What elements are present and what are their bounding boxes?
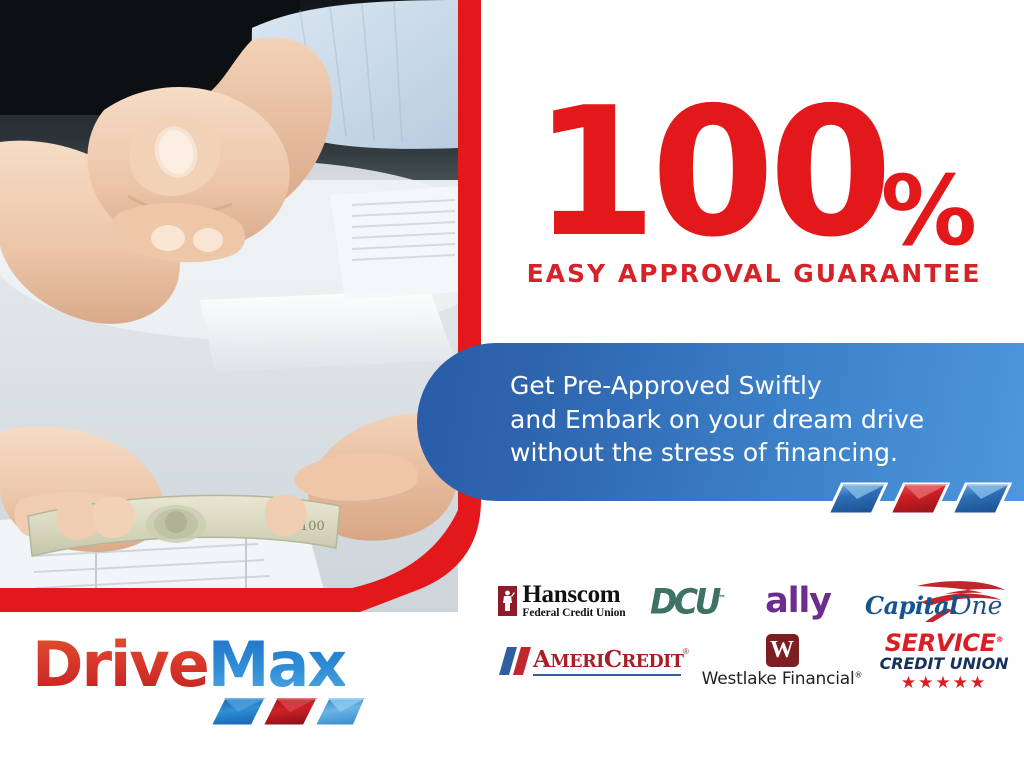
drivemax-wordmark: DriveMax [32,634,345,696]
lender-row-1: Hanscom Federal Credit Union DCU™ ally [492,572,1016,630]
service-cu-stars-icon: ★★★★★ [901,674,987,691]
americredit-slash-icon [497,647,531,675]
westlake-w-letter: W [770,638,794,662]
capital-one-one: One [951,591,1002,620]
westlake-w-mark-icon: W [766,634,799,667]
capital-one-wordmark: Capital One [859,578,1009,624]
chevron-accent-icon [826,482,1012,516]
drivemax-logo[interactable]: DriveMax [32,634,372,738]
lender-logo-grid: Hanscom Federal Credit Union DCU™ ally [492,566,1016,698]
service-cu-trademark: ® [996,635,1004,644]
promo-line-3: without the stress of financing. [510,436,1010,470]
lender-logo-service-cu[interactable]: SERVICE® CREDIT UNION ★★★★★ [872,632,1016,690]
service-cu-name: SERVICE® [885,631,1003,655]
service-cu-subtitle: CREDIT UNION [880,656,1009,672]
hanscom-name: Hanscom [522,582,625,607]
headline-subtitle: EASY APPROVAL GUARANTEE [484,259,1024,288]
headline-block: 100 % EASY APPROVAL GUARANTEE [484,96,1024,326]
ally-wordmark: ally [765,581,831,621]
lender-logo-ally[interactable]: ally [744,572,852,630]
westlake-trademark: ® [855,670,863,679]
americredit-trademark: ® [683,647,689,656]
promo-line-1: Get Pre-Approved Swiftly [510,369,1010,403]
promotional-banner: 100 100 100 % EASY APPROVAL GUARANTEE Ge… [0,0,1024,768]
drivemax-max: Max [208,628,346,701]
lender-logo-capital-one[interactable]: Capital One [852,572,1016,630]
promo-banner: Get Pre-Approved Swiftly and Embark on y… [417,343,1024,501]
promo-text: Get Pre-Approved Swiftly and Embark on y… [510,369,1010,470]
americredit-underline [533,674,681,676]
lender-row-2: AMERICREDIT ® W Westlake Financial® SERV… [492,632,1016,690]
dcu-wordmark: DCU™ [650,580,726,621]
lender-logo-dcu[interactable]: DCU™ [632,572,744,630]
lender-logo-westlake[interactable]: W Westlake Financial® [692,632,872,690]
lender-logo-hanscom[interactable]: Hanscom Federal Credit Union [492,572,632,630]
americredit-wordmark: AMERICREDIT ® [497,641,687,681]
hanscom-wordmark: Hanscom Federal Credit Union [522,582,625,620]
hanscom-tagline: Federal Credit Union [522,608,625,620]
lender-logo-americredit[interactable]: AMERICREDIT ® [492,632,692,690]
americredit-text: AMERICREDIT [533,646,683,673]
drivemax-chevron-icon [208,696,368,730]
dcu-trademark: ™ [718,593,726,603]
promo-line-2: and Embark on your dream drive [510,403,1010,437]
drivemax-drive: Drive [32,628,208,701]
percentage-display: 100 % [484,96,1024,253]
percent-symbol: % [881,170,975,253]
handshake-photo-illustration: 100 100 [0,0,458,612]
westlake-wordmark: Westlake Financial® [702,669,863,689]
capital-one-capital: Capital [865,591,958,620]
percentage-number: 100 [533,96,887,249]
handshake-photo: 100 100 [0,0,458,612]
hanscom-emblem-icon [498,586,517,616]
